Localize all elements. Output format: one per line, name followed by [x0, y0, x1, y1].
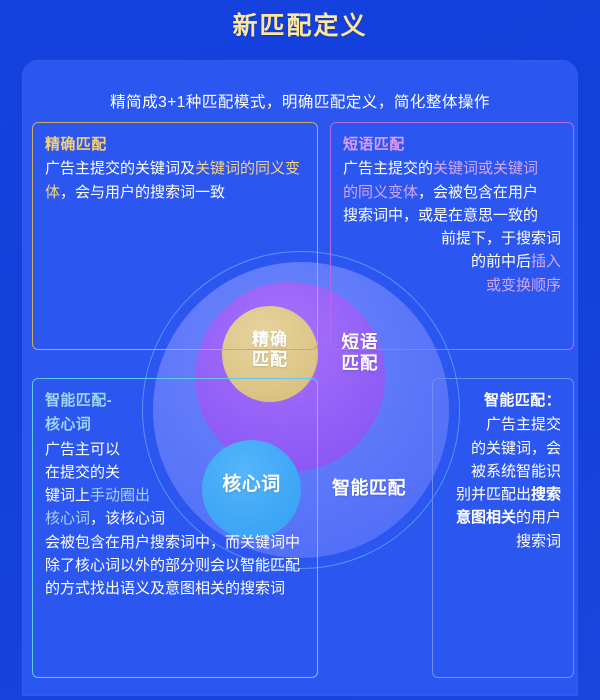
card-phrase-highlight-4: 或变换顺序	[486, 277, 561, 294]
card-smart-title: 智能匹配：	[445, 389, 561, 412]
card-phrase-highlight-3: 插入	[531, 253, 561, 270]
card-core-text-2: ，该核心词	[90, 510, 165, 527]
card-exact-body: 广告主提交的关键词及关键词的同义变体，会与用户的搜索词一致	[45, 157, 305, 204]
card-core-text-1: 键词上	[45, 487, 90, 504]
card-exact-text-2: ，会与用户的搜索词一	[60, 184, 210, 201]
card-exact-text-3: 致	[210, 184, 225, 201]
venn-label-phrase-line2: 匹配	[342, 353, 379, 373]
card-phrase-text-1: 广告主提交的	[343, 160, 433, 177]
card-phrase-text-3: 的前中后	[471, 253, 531, 270]
card-phrase-highlight-1: 关键词或关键词	[433, 160, 538, 177]
card-core-title-line2: 核心词	[45, 413, 305, 436]
card-exact-highlight-1: 关键词的	[195, 160, 255, 177]
card-exact-title: 精确匹配	[45, 133, 305, 156]
card-core-line-8: 意图相关的搜索词	[165, 580, 285, 597]
card-smart-line-3: 被系统智能识	[471, 463, 561, 480]
card-smart-text-2: 的用户搜索词	[516, 509, 561, 549]
card-smart-bold-2: 意图相关	[456, 509, 516, 526]
venn-label-exact-line2: 匹配	[252, 350, 288, 369]
card-core-line-2: 在提交的关	[45, 464, 120, 481]
card-core-highlight-1: 手动圈出	[90, 487, 150, 504]
card-core-title-line1: 智能匹配-	[45, 389, 305, 412]
card-smart-text-1: 别并匹配出	[456, 486, 531, 503]
card-core-body: 广告主可以在提交的关键词上手动圈出核心词，该核心词会被包含在用户搜索词中，而关键…	[45, 438, 305, 601]
page-title: 新匹配定义	[0, 6, 600, 42]
card-smart-line-2: 的关键词，会	[471, 440, 561, 457]
card-core-word: 智能匹配- 核心词 广告主可以在提交的关键词上手动圈出核心词，该核心词会被包含在…	[32, 378, 318, 678]
card-phrase-match: 短语匹配 广告主提交的关键词或关键词的同义变体，会被包含在用户搜索词中，或是在意…	[330, 122, 574, 350]
card-smart-line-1: 广告主提交	[486, 416, 561, 433]
card-phrase-line-4: 前提下，于搜索词	[441, 230, 561, 247]
card-exact-text-1: 广告主提交的关键词及	[45, 160, 195, 177]
card-phrase-text-2: ，会被包含在用户	[418, 184, 538, 201]
card-exact-match: 精确匹配 广告主提交的关键词及关键词的同义变体，会与用户的搜索词一致	[32, 122, 318, 350]
card-smart-match: 智能匹配： 广告主提交的关键词，会被系统智能识别并匹配出搜索意图相关的用户搜索词	[432, 378, 574, 678]
card-phrase-line-1: 广告主提交的关键词或关键词	[343, 157, 561, 180]
card-phrase-highlight-2: 的同义变体	[343, 184, 418, 201]
content-panel: 精简成3+1种匹配模式，明确匹配定义，简化整体操作 精确 匹配 短语 匹配 核心…	[22, 60, 578, 696]
card-phrase-line-3: 搜索词中，或是在意思一致的	[343, 204, 561, 227]
card-phrase-line-2: 的同义变体，会被包含在用户	[343, 181, 561, 204]
card-phrase-title: 短语匹配	[343, 133, 561, 156]
card-core-highlight-2: 核心词	[45, 510, 90, 527]
infographic-root: 新匹配定义 精简成3+1种匹配模式，明确匹配定义，简化整体操作 精确 匹配 短语…	[0, 0, 600, 700]
card-smart-body: 广告主提交的关键词，会被系统智能识别并匹配出搜索意图相关的用户搜索词	[445, 413, 561, 553]
card-phrase-body: 广告主提交的关键词或关键词的同义变体，会被包含在用户搜索词中，或是在意思一致的前…	[343, 157, 561, 297]
card-core-line-1: 广告主可以	[45, 441, 120, 458]
card-smart-bold-1: 搜索	[531, 486, 561, 503]
venn-label-smart-match: 智能匹配	[307, 478, 431, 499]
card-core-line-5: 会被包含在用户搜索词中，而关	[45, 534, 255, 551]
